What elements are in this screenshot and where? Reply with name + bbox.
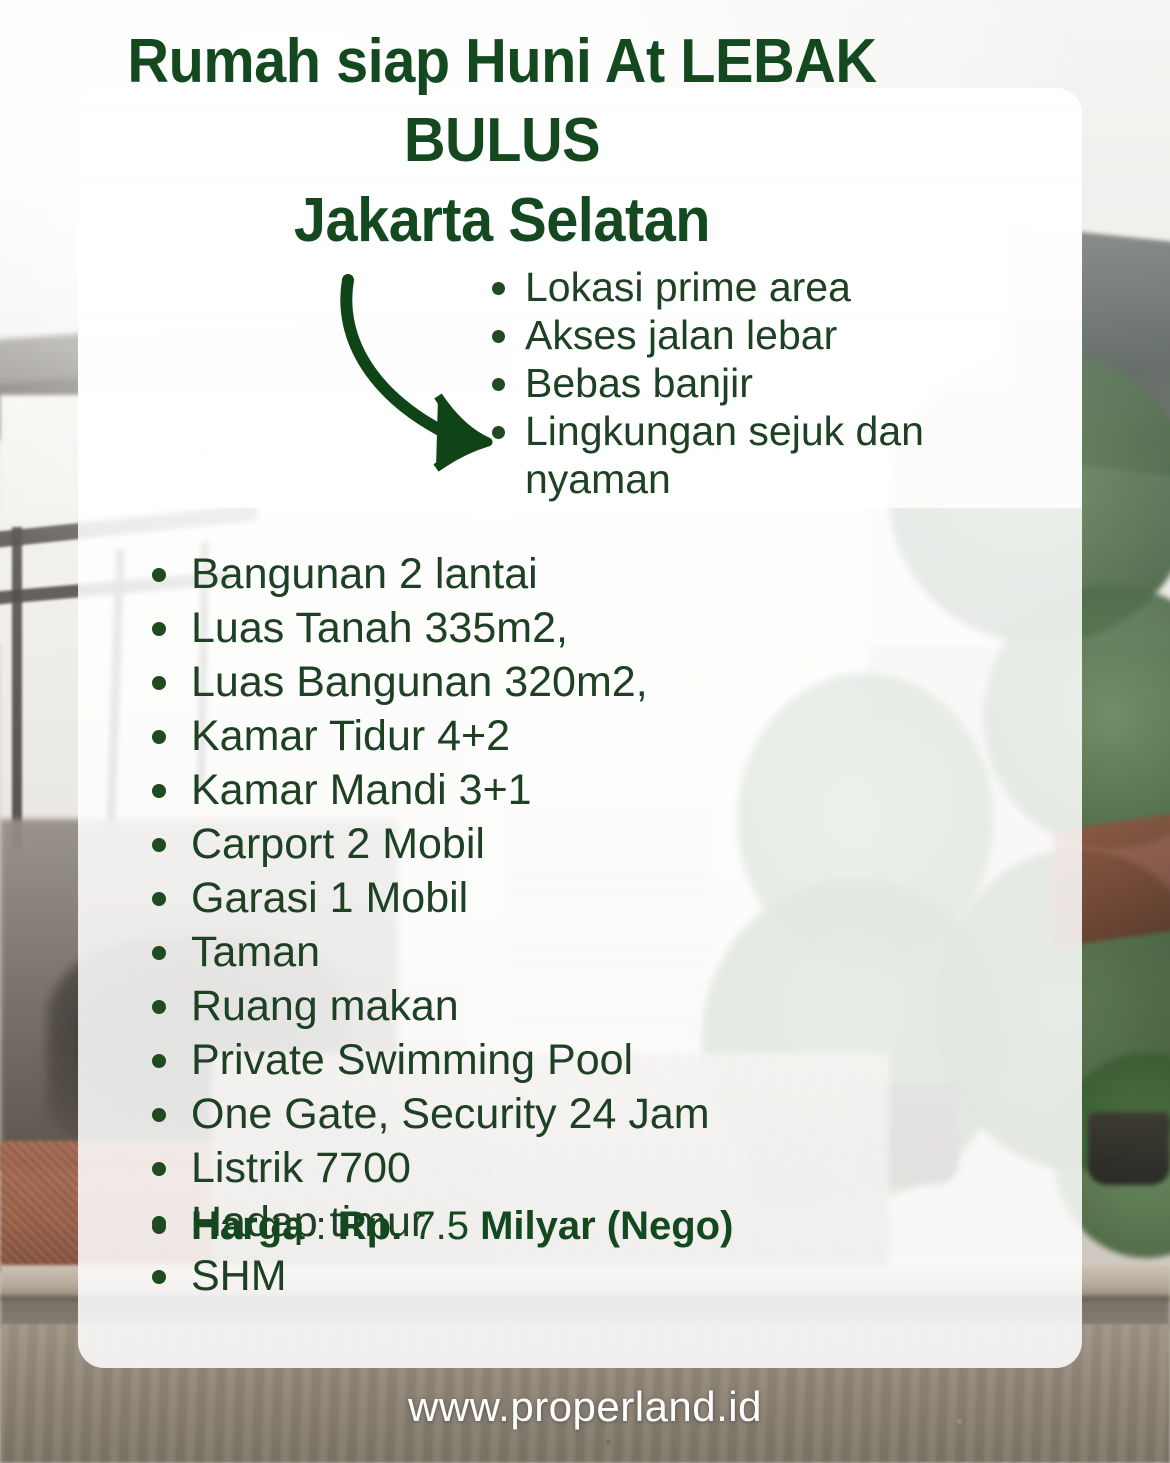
price-line: Harga : Rp. 7.5 Milyar (Nego) [152,1200,733,1252]
list-item: Lingkungan sejuk dan nyaman [492,407,992,503]
list-item: Ruang makan [152,979,952,1033]
price-separator: : [316,1204,327,1248]
list-item: Bangunan 2 lantai [152,547,952,601]
bullet-icon [492,426,522,439]
list-item: SHM [152,1249,952,1303]
spec-text: Carport 2 Mobil [191,817,485,871]
spec-text: Taman [191,925,320,979]
property-listing-poster: Rumah siap Huni At LEBAK BULUS Jakarta S… [0,0,1170,1463]
bullet-icon [152,946,186,960]
list-item: Listrik 7700 [152,1141,952,1195]
footer-website[interactable]: www.properland.id [0,1383,1170,1431]
bullet-icon [492,282,522,295]
highlight-text: Lokasi prime area [525,263,992,311]
bullet-icon [152,1270,186,1284]
price-label: Harga [191,1204,304,1248]
bullet-icon [492,378,522,391]
highlight-text: Akses jalan lebar [525,311,992,359]
highlights-list: Lokasi prime area Akses jalan lebar Beba… [492,263,992,503]
bullet-icon [152,1054,186,1068]
list-item: Kamar Mandi 3+1 [152,763,952,817]
list-item: Luas Bangunan 320m2, [152,655,952,709]
spec-text: Garasi 1 Mobil [191,871,468,925]
bullet-icon [152,1000,186,1014]
list-item: Taman [152,925,952,979]
photo-pergola-post [12,527,23,849]
photo-planter-pot [1088,1112,1170,1185]
price-unit: Milyar [480,1204,596,1248]
bullet-icon [152,1220,186,1234]
page-title: Rumah siap Huni At LEBAK BULUS Jakarta S… [91,22,913,260]
spec-text: Luas Tanah 335m2, [191,601,568,655]
bullet-icon [152,622,186,636]
list-item: Bebas banjir [492,359,992,407]
price-content: Harga : Rp. 7.5 Milyar (Nego) [191,1200,733,1252]
spec-text: SHM [191,1249,287,1303]
bullet-icon [152,784,186,798]
highlight-text: Bebas banjir [525,359,992,407]
spec-text: Private Swimming Pool [191,1033,633,1087]
list-item: Private Swimming Pool [152,1033,952,1087]
highlight-text: Lingkungan sejuk dan nyaman [525,407,992,503]
bullet-icon [152,1108,186,1122]
price-amount: 7.5 [413,1204,469,1248]
spec-text: Ruang makan [191,979,459,1033]
list-item: Luas Tanah 335m2, [152,601,952,655]
spec-text: Listrik 7700 [191,1141,411,1195]
bullet-icon [152,838,186,852]
specifications-list: Bangunan 2 lantai Luas Tanah 335m2, Luas… [152,547,952,1303]
bullet-icon [492,330,522,343]
spec-text: One Gate, Security 24 Jam [191,1087,710,1141]
bullet-icon [152,568,186,582]
list-item: Carport 2 Mobil [152,817,952,871]
spec-text: Kamar Mandi 3+1 [191,763,532,817]
bullet-icon [152,676,186,690]
spec-text: Kamar Tidur 4+2 [191,709,510,763]
spec-text: Bangunan 2 lantai [191,547,538,601]
spec-text: Luas Bangunan 320m2, [191,655,648,709]
bullet-icon [152,892,186,906]
list-item: Lokasi prime area [492,263,992,311]
bullet-icon [152,1162,186,1176]
price-note: (Nego) [607,1204,734,1248]
title-line-1: Rumah siap Huni At LEBAK BULUS [91,22,913,181]
list-item: One Gate, Security 24 Jam [152,1087,952,1141]
bullet-icon [152,730,186,744]
price-currency: Rp. [338,1204,402,1248]
list-item: Akses jalan lebar [492,311,992,359]
list-item: Garasi 1 Mobil [152,871,952,925]
list-item: Kamar Tidur 4+2 [152,709,952,763]
title-line-2: Jakarta Selatan [91,181,913,260]
